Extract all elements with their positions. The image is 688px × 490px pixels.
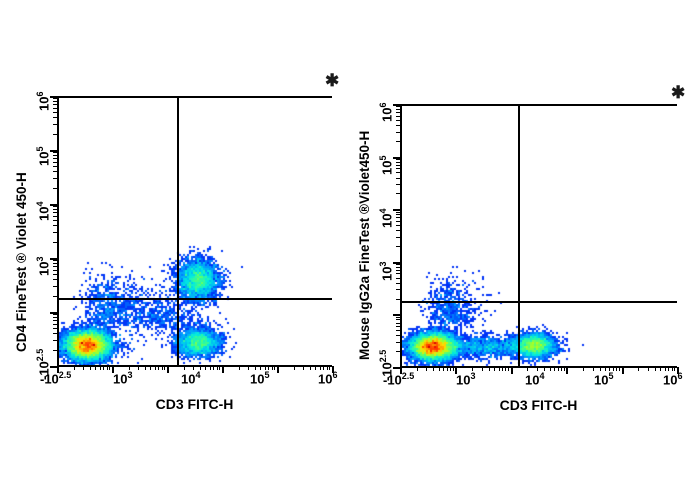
y-tick-label-right-4: 106 xyxy=(378,103,394,122)
x-tick-minor xyxy=(100,366,101,370)
x-tick-minor xyxy=(162,366,163,370)
y-tick-minor xyxy=(396,120,400,121)
x-tick-major xyxy=(222,366,224,373)
x-tick-minor xyxy=(74,366,75,370)
x-tick-minor xyxy=(164,366,165,370)
x-tick-minor xyxy=(95,366,96,370)
y-tick-minor xyxy=(53,158,57,159)
y-tick-minor xyxy=(396,162,400,163)
plot-frame-right xyxy=(400,104,677,368)
y-tick-minor xyxy=(53,134,57,135)
y-tick-minor xyxy=(396,267,400,268)
y-tick-minor xyxy=(396,270,400,271)
x-tick-minor xyxy=(213,366,214,370)
quadrant-line-vertical-left xyxy=(177,98,179,367)
x-tick-minor xyxy=(155,366,156,370)
y-tick-minor xyxy=(53,117,57,118)
y-tick-label-right-0: -102.5 xyxy=(378,350,394,381)
y-tick-minor xyxy=(396,246,400,247)
y-tick-minor xyxy=(53,166,57,167)
y-tick-minor xyxy=(53,333,57,334)
x-tick-minor xyxy=(482,367,483,371)
y-tick-minor xyxy=(53,317,57,318)
y-tick-minor xyxy=(53,320,57,321)
y-tick-major xyxy=(50,312,57,314)
x-tick-minor xyxy=(550,367,551,371)
y-tick-minor xyxy=(396,299,400,300)
y-tick-label-left-4: 106 xyxy=(35,92,51,111)
y-tick-minor xyxy=(396,193,400,194)
x-tick-minor xyxy=(138,366,139,370)
quadrant-line-horizontal-left xyxy=(59,298,332,300)
x-tick-minor xyxy=(83,366,84,370)
y-tick-minor xyxy=(396,168,400,169)
y-tick-minor xyxy=(53,266,57,267)
y-tick-minor xyxy=(53,162,57,163)
y-tick-label-right-1: 103 xyxy=(378,262,394,281)
y-tick-minor xyxy=(396,317,400,318)
x-tick-major xyxy=(167,366,169,373)
y-tick-minor xyxy=(53,286,57,287)
x-tick-minor xyxy=(564,367,565,371)
x-tick-minor xyxy=(453,367,454,371)
y-tick-minor xyxy=(396,273,400,274)
y-tick-minor xyxy=(53,171,57,172)
y-tick-label-left-1: 103 xyxy=(35,257,51,276)
x-tick-minor xyxy=(558,367,559,371)
y-tick-minor xyxy=(396,330,400,331)
x-tick-minor xyxy=(426,367,427,371)
y-tick-minor xyxy=(396,141,400,142)
x-tick-minor xyxy=(505,367,506,371)
y-tick-minor xyxy=(396,335,400,336)
x-axis-line-right xyxy=(400,366,677,368)
plot-frame-left xyxy=(57,96,332,367)
x-tick-label-left-4: 106 xyxy=(318,370,337,386)
panel-right-isotype: ✱ -102.5 103 104 105 106 -102.5 103 xyxy=(344,0,688,490)
y-tick-minor xyxy=(396,165,400,166)
y-tick-minor xyxy=(396,264,400,265)
y-tick-minor xyxy=(53,232,57,233)
asterisk-marker-left: ✱ xyxy=(325,72,339,89)
x-tick-minor xyxy=(494,367,495,371)
x-tick-minor xyxy=(310,366,311,370)
y-tick-label-left-3: 105 xyxy=(35,147,51,166)
x-tick-minor xyxy=(439,367,440,371)
x-tick-minor xyxy=(450,367,451,371)
y-tick-minor xyxy=(396,225,400,226)
y-tick-minor xyxy=(396,159,400,160)
x-tick-label-left-3: 105 xyxy=(250,370,269,386)
scatter-canvas-right xyxy=(402,106,677,368)
y-tick-minor xyxy=(396,172,400,173)
x-tick-label-right-4: 106 xyxy=(663,371,682,387)
y-tick-label-left-0: -102.5 xyxy=(35,349,51,380)
y-axis-title-left: CD4 FineTest ® Violet 450-H xyxy=(14,172,29,352)
y-tick-minor xyxy=(53,328,57,329)
x-tick-label-left-2: 104 xyxy=(181,370,200,386)
x-tick-minor xyxy=(103,366,104,370)
y-tick-minor xyxy=(396,342,400,343)
x-tick-minor xyxy=(239,366,240,370)
x-tick-major xyxy=(622,367,624,374)
x-tick-minor xyxy=(109,366,110,370)
y-tick-minor xyxy=(53,350,57,351)
y-tick-minor xyxy=(53,206,57,207)
y-tick-minor xyxy=(396,289,400,290)
asterisk-marker-right: ✱ xyxy=(671,84,685,101)
x-tick-minor xyxy=(315,366,316,370)
y-tick-minor xyxy=(396,112,400,113)
x-tick-minor xyxy=(145,366,146,370)
y-tick-label-right-2: 104 xyxy=(378,209,394,228)
x-tick-minor xyxy=(660,367,661,371)
x-axis-title-right: CD3 FITC-H xyxy=(451,397,626,413)
x-tick-minor xyxy=(554,367,555,371)
y-tick-minor xyxy=(53,260,57,261)
y-tick-minor xyxy=(53,263,57,264)
x-tick-minor xyxy=(616,367,617,371)
panel-left-cd4: ✱ -102.5 103 104 105 106 -102.5 103 xyxy=(0,0,344,490)
y-tick-minor xyxy=(396,283,400,284)
y-tick-minor xyxy=(396,217,400,218)
x-tick-major xyxy=(566,367,568,374)
x-tick-minor xyxy=(433,367,434,371)
y-tick-minor xyxy=(396,237,400,238)
x-tick-minor xyxy=(561,367,562,371)
y-tick-minor xyxy=(396,116,400,117)
x-tick-minor xyxy=(294,366,295,370)
y-tick-minor xyxy=(53,314,57,315)
x-axis-line-left xyxy=(57,365,332,367)
x-tick-minor xyxy=(443,367,444,371)
x-tick-label-right-3: 105 xyxy=(594,371,613,387)
x-tick-minor xyxy=(219,366,220,370)
y-tick-minor xyxy=(396,351,400,352)
x-tick-minor xyxy=(210,366,211,370)
y-tick-minor xyxy=(396,326,400,327)
x-tick-minor xyxy=(508,367,509,371)
x-tick-minor xyxy=(638,367,639,371)
y-tick-minor xyxy=(53,242,57,243)
x-tick-label-right-2: 104 xyxy=(525,371,544,387)
x-tick-minor xyxy=(489,367,490,371)
y-tick-minor xyxy=(53,152,57,153)
y-tick-minor xyxy=(53,108,57,109)
x-tick-minor xyxy=(303,366,304,370)
y-tick-minor xyxy=(53,270,57,271)
y-tick-label-left-2: 104 xyxy=(35,202,51,221)
y-tick-minor xyxy=(53,104,57,105)
y-tick-label-right-3: 105 xyxy=(378,156,394,175)
y-tick-minor xyxy=(53,178,57,179)
x-axis-title-left: CD3 FITC-H xyxy=(107,396,282,412)
x-tick-minor xyxy=(90,366,91,370)
y-tick-minor xyxy=(53,279,57,280)
quadrant-line-horizontal-right xyxy=(402,301,677,303)
x-tick-minor xyxy=(150,366,151,370)
x-tick-minor xyxy=(107,366,108,370)
y-tick-minor xyxy=(53,188,57,189)
x-tick-major xyxy=(511,367,513,374)
x-tick-minor xyxy=(205,366,206,370)
scatter-canvas-left xyxy=(59,98,332,367)
y-tick-minor xyxy=(396,184,400,185)
x-tick-minor xyxy=(417,367,418,371)
x-tick-minor xyxy=(619,367,620,371)
y-tick-minor xyxy=(396,214,400,215)
y-tick-minor xyxy=(53,216,57,217)
x-tick-minor xyxy=(272,366,273,370)
y-tick-minor xyxy=(396,109,400,110)
x-tick-label-right-1: 103 xyxy=(456,371,475,387)
flow-cytometry-figure: ✱ -102.5 103 104 105 106 -102.5 103 xyxy=(0,0,688,490)
x-tick-minor xyxy=(499,367,500,371)
x-tick-major xyxy=(277,366,279,373)
y-tick-minor xyxy=(53,220,57,221)
x-tick-minor xyxy=(648,367,649,371)
y-tick-minor xyxy=(53,274,57,275)
x-tick-minor xyxy=(502,367,503,371)
x-tick-minor xyxy=(655,367,656,371)
y-tick-minor xyxy=(396,106,400,107)
x-tick-minor xyxy=(217,366,218,370)
quadrant-line-vertical-right xyxy=(518,106,520,368)
y-tick-minor xyxy=(53,209,57,210)
y-tick-minor xyxy=(396,323,400,324)
y-tick-minor xyxy=(53,98,57,99)
y-tick-minor xyxy=(396,319,400,320)
y-axis-title-right: Mouse IgG2a FineTest ®Violet450-H xyxy=(357,131,372,360)
y-tick-minor xyxy=(53,296,57,297)
x-tick-minor xyxy=(158,366,159,370)
y-tick-minor xyxy=(53,225,57,226)
y-tick-minor xyxy=(53,101,57,102)
y-tick-minor xyxy=(53,124,57,125)
x-tick-minor xyxy=(583,367,584,371)
y-tick-minor xyxy=(396,230,400,231)
y-tick-minor xyxy=(396,212,400,213)
y-tick-minor xyxy=(396,132,400,133)
y-tick-minor xyxy=(53,112,57,113)
x-tick-label-left-1: 103 xyxy=(113,370,132,386)
y-tick-minor xyxy=(396,178,400,179)
y-tick-minor xyxy=(396,278,400,279)
x-tick-minor xyxy=(447,367,448,371)
y-tick-minor xyxy=(396,221,400,222)
x-tick-minor xyxy=(274,366,275,370)
y-tick-minor xyxy=(53,324,57,325)
y-tick-minor xyxy=(396,125,400,126)
y-tick-minor xyxy=(53,340,57,341)
y-tick-major xyxy=(393,314,400,316)
y-tick-minor xyxy=(53,212,57,213)
y-tick-minor xyxy=(53,155,57,156)
